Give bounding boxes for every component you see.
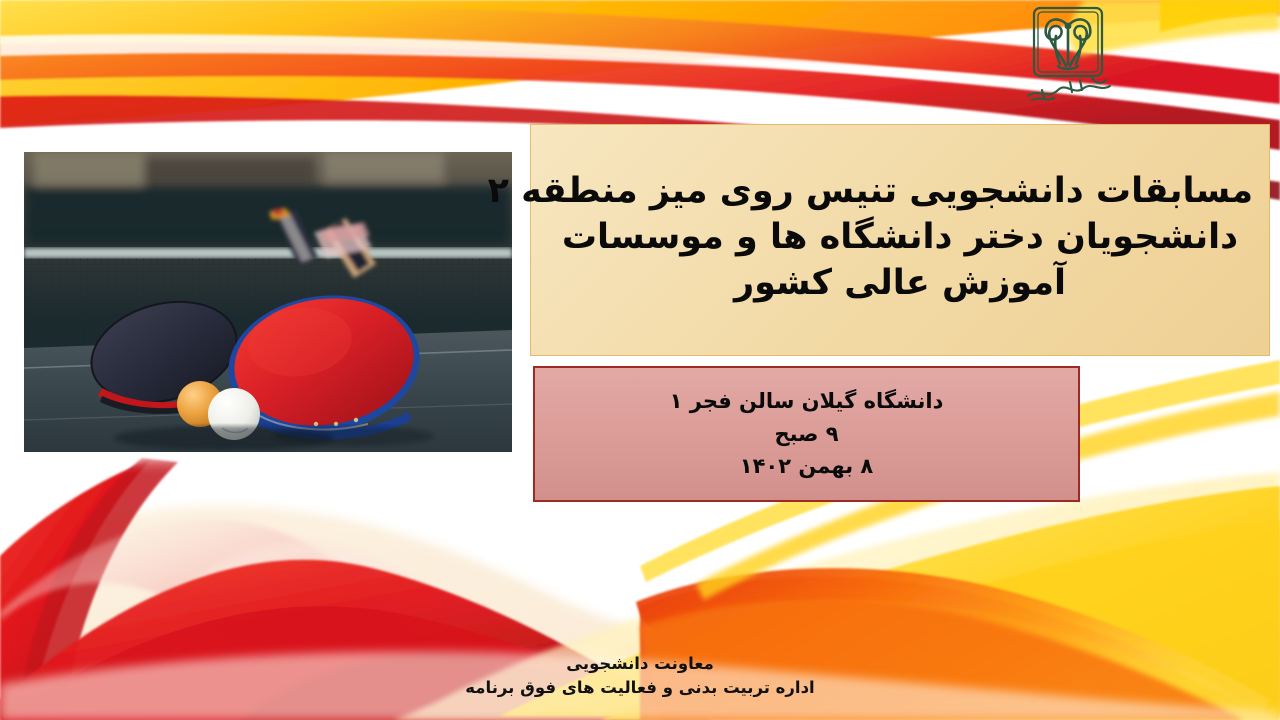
event-venue: دانشگاه گیلان سالن فجر ۱ bbox=[670, 386, 944, 416]
university-of-gilan-logo-icon bbox=[1018, 4, 1130, 108]
table-tennis-photo-illustration bbox=[24, 152, 512, 452]
footer-line-2: اداره تربیت بدنی و فعالیت های فوق برنامه bbox=[0, 676, 1280, 700]
title-line-3: آموزش عالی کشور bbox=[547, 260, 1253, 306]
event-details-box: دانشگاه گیلان سالن فجر ۱ ۹ صبح ۸ بهمن ۱۴… bbox=[533, 366, 1080, 502]
event-date: ۸ بهمن ۱۴۰۲ bbox=[740, 451, 873, 481]
title-box: مسابقات دانشجویی تنیس روی میز منطقه ۲ دا… bbox=[530, 124, 1270, 356]
title-line-1: مسابقات دانشجویی تنیس روی میز منطقه ۲ bbox=[547, 168, 1253, 214]
organizer-footer: معاونت دانشجویی اداره تربیت بدنی و فعالی… bbox=[0, 652, 1280, 700]
footer-line-1: معاونت دانشجویی bbox=[0, 652, 1280, 676]
poster-canvas: مسابقات دانشجویی تنیس روی میز منطقه ۲ دا… bbox=[0, 0, 1280, 720]
event-time: ۹ صبح bbox=[774, 419, 838, 449]
table-tennis-photo bbox=[24, 152, 512, 452]
poster-title: مسابقات دانشجویی تنیس روی میز منطقه ۲ دا… bbox=[547, 168, 1253, 307]
title-line-2: دانشجویان دختر دانشگاه ها و موسسات bbox=[547, 214, 1253, 260]
university-logo bbox=[1018, 4, 1130, 108]
